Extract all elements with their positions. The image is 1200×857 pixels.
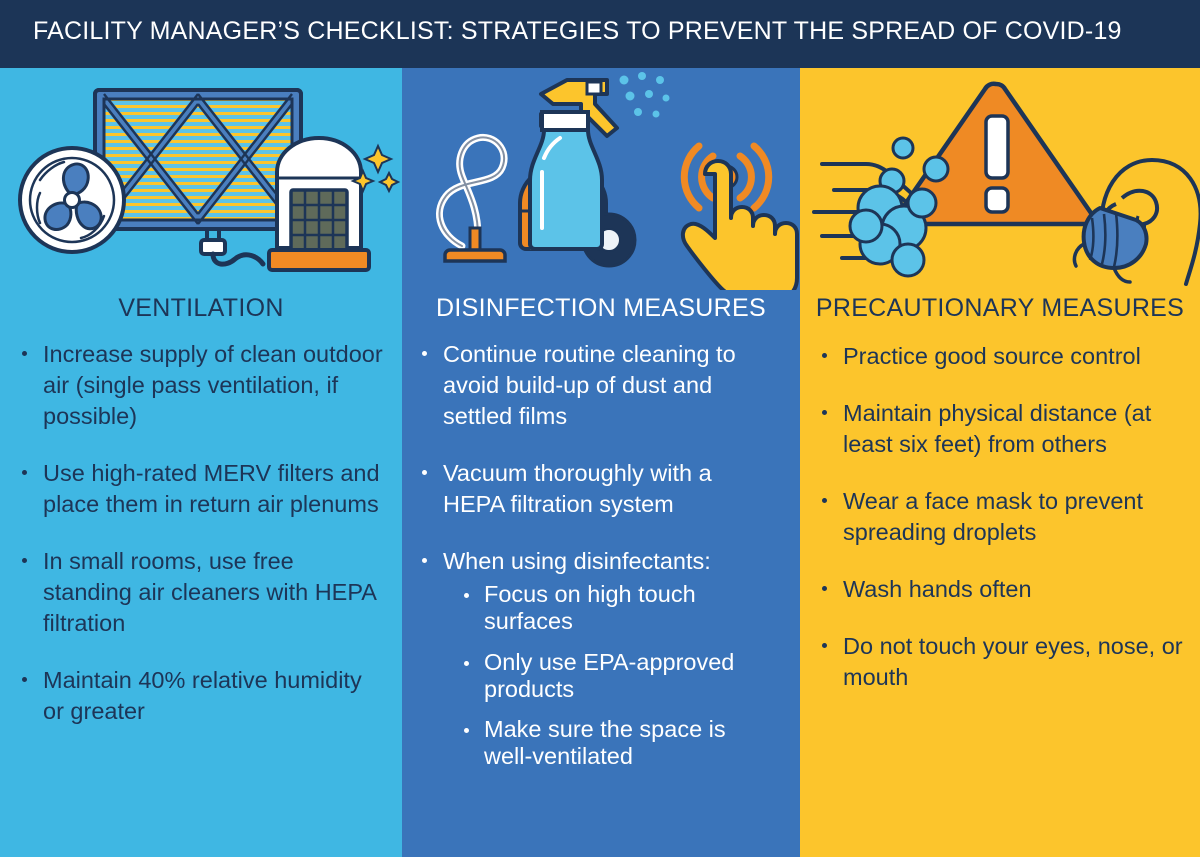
list-item: Make sure the space is well-ventilated [464,716,778,771]
bullet-dot [22,351,27,356]
list-item: Increase supply of clean outdoor air (si… [22,339,388,432]
column-disinfection-measures: DISINFECTION MEASURES Continue routine c… [402,68,800,857]
air-purifier-icon [269,138,369,270]
bullet-list-disinfection: Continue routine cleaning to avoid build… [402,339,800,771]
face-mask-profile-icon [1074,160,1200,284]
column-heading-precautionary: PRECAUTIONARY MEASURES [800,296,1200,321]
bullet-dot [822,498,827,503]
bullet-list-ventilation: Increase supply of clean outdoor air (si… [0,339,402,727]
mist-droplets [620,72,670,118]
bullet-dot [22,558,27,563]
bullet-text: Maintain physical distance (at least six… [843,400,1151,457]
column-heading-ventilation: VENTILATION [0,296,402,321]
bullet-text: In small rooms, use free standing air cl… [43,548,376,636]
bullet-text: Wear a face mask to prevent spreading dr… [843,488,1143,545]
column-heading-disinfection: DISINFECTION MEASURES [402,296,800,321]
list-item: Use high-rated MERV filters and place th… [22,458,388,520]
bullet-dot [464,593,469,598]
bullet-text: Increase supply of clean outdoor air (si… [43,341,383,429]
bullet-dot [422,558,427,563]
bullet-dot [422,351,427,356]
disinfection-illustration [402,68,800,290]
bullet-text: Vacuum thoroughly with a HEPA filtration… [443,460,712,517]
list-item: Only use EPA-approved products [464,649,778,704]
bullet-text: Practice good source control [843,343,1141,369]
list-item: Wash hands often [822,574,1186,605]
sub-bullet-text: Only use EPA-approved products [484,649,734,702]
bullet-text: Continue routine cleaning to avoid build… [443,341,736,429]
list-item: Wear a face mask to prevent spreading dr… [822,486,1186,548]
bullet-text: When using disinfectants: [443,548,711,574]
bullet-text: Do not touch your eyes, nose, or mouth [843,633,1183,690]
list-item: Continue routine cleaning to avoid build… [422,339,778,432]
column-precautionary-measures: PRECAUTIONARY MEASURES Practice good sou… [800,68,1200,857]
ventilation-illustration [0,68,402,290]
list-item: Practice good source control [822,341,1186,372]
bullet-list-precautionary: Practice good source control Maintain ph… [800,341,1200,693]
bullet-text: Wash hands often [843,576,1032,602]
bullet-dot [464,661,469,666]
list-item: Maintain physical distance (at least six… [822,398,1186,460]
list-item: When using disinfectants: Focus on high … [422,546,778,771]
air-filter-icon [95,90,301,229]
column-ventilation: VENTILATION Increase supply of clean out… [0,68,402,857]
touch-hand-icon [683,146,797,290]
precautionary-illustration [800,68,1200,290]
infographic-poster: FACILITY MANAGER’S CHECKLIST: STRATEGIES… [0,0,1200,857]
bullet-dot [822,410,827,415]
list-item: Focus on high touch surfaces [464,581,778,636]
spray-bottle-icon [530,72,670,249]
list-item: Vacuum thoroughly with a HEPA filtration… [422,458,778,520]
bullet-dot [22,677,27,682]
sub-bullet-list-disinfectants: Focus on high touch surfaces Only use EP… [443,581,778,771]
bullet-dot [822,643,827,648]
list-item: Maintain 40% relative humidity or greate… [22,665,388,727]
washing-hands-icon [814,138,948,276]
poster-header: FACILITY MANAGER’S CHECKLIST: STRATEGIES… [0,0,1200,68]
bullet-dot [422,470,427,475]
columns-container: VENTILATION Increase supply of clean out… [0,68,1200,857]
fan-icon [20,148,124,252]
power-plug-icon [201,231,263,264]
list-item: In small rooms, use free standing air cl… [22,546,388,639]
bullet-dot [822,353,827,358]
list-item: Do not touch your eyes, nose, or mouth [822,631,1186,693]
bullet-text: Maintain 40% relative humidity or greate… [43,667,362,724]
poster-title: FACILITY MANAGER’S CHECKLIST: STRATEGIES… [33,17,1122,46]
bullet-dot [464,728,469,733]
bullet-dot [22,470,27,475]
bullet-dot [822,586,827,591]
sub-bullet-text: Focus on high touch surfaces [484,581,696,634]
bullet-text: Use high-rated MERV filters and place th… [43,460,380,517]
sub-bullet-text: Make sure the space is well-ventilated [484,716,726,769]
